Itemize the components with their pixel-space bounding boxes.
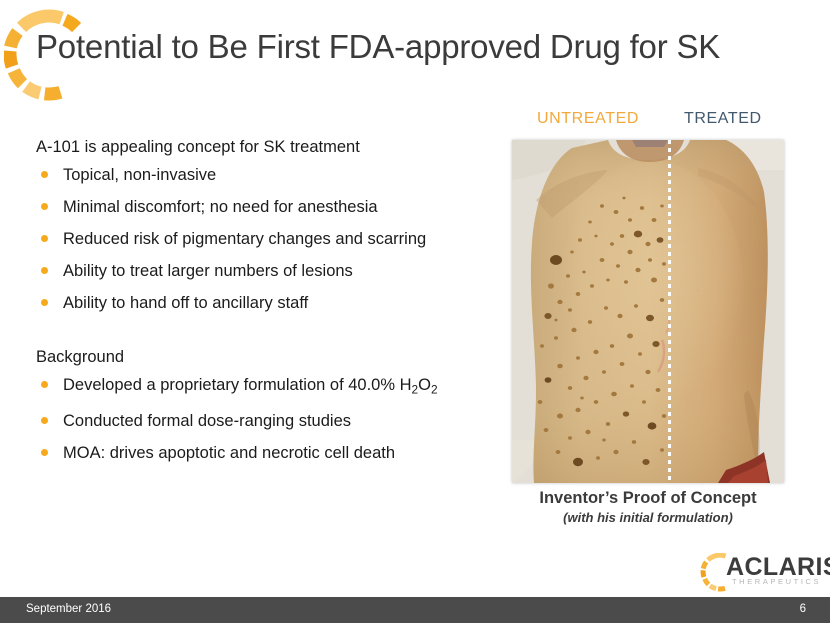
footer-page-number: 6: [800, 603, 806, 615]
photo-label-treated: TREATED: [684, 110, 762, 128]
slide: Potential to Be First FDA-approved Drug …: [0, 0, 830, 623]
list-item-label: Ability to treat larger numbers of lesio…: [63, 262, 353, 280]
list-item-label: MOA: drives apoptotic and necrotic cell …: [63, 444, 395, 462]
treatment-divider-line: [668, 140, 671, 483]
list-item-label: Developed a proprietary formulation of 4…: [63, 376, 438, 394]
list-item-label: Conducted formal dose-ranging studies: [63, 412, 351, 430]
list-item-label: Topical, non-invasive: [63, 166, 216, 184]
bullet-dot-icon: [41, 417, 48, 424]
bullet-list-background: Developed a proprietary formulation of 4…: [36, 374, 496, 464]
photo-caption-sub: (with his initial formulation): [512, 510, 784, 525]
lead-line-background: Background: [36, 346, 496, 368]
page-title: Potential to Be First FDA-approved Drug …: [36, 26, 720, 68]
list-item: Conducted formal dose-ranging studies: [36, 410, 496, 432]
bullet-dot-icon: [41, 267, 48, 274]
list-item-label: Ability to hand off to ancillary staff: [63, 294, 308, 312]
photo-label-untreated: UNTREATED: [537, 110, 639, 128]
bullet-dot-icon: [41, 449, 48, 456]
bullet-list-concept: Topical, non-invasive Minimal discomfort…: [36, 164, 496, 314]
bullet-dot-icon: [41, 381, 48, 388]
background-section: Background Developed a proprietary formu…: [36, 346, 496, 464]
bullet-dot-icon: [41, 203, 48, 210]
footer-bar: September 2016 6: [0, 597, 830, 623]
clinical-photo-panel: [512, 140, 784, 483]
footer-date: September 2016: [26, 603, 111, 615]
list-item: Ability to hand off to ancillary staff: [36, 292, 496, 314]
body-content: A-101 is appealing concept for SK treatm…: [36, 136, 496, 474]
list-item: Ability to treat larger numbers of lesio…: [36, 260, 496, 282]
aclaris-logo: ACLARIS THERAPEUTICS: [700, 551, 822, 591]
list-item-label: Minimal discomfort; no need for anesthes…: [63, 198, 378, 216]
list-item: Topical, non-invasive: [36, 164, 496, 186]
clinical-photo-image: [512, 140, 784, 483]
bullet-dot-icon: [41, 235, 48, 242]
bullet-dot-icon: [41, 299, 48, 306]
list-item-label: Reduced risk of pigmentary changes and s…: [63, 230, 426, 248]
photo-caption-main: Inventor’s Proof of Concept: [512, 489, 784, 508]
list-item: Developed a proprietary formulation of 4…: [36, 374, 496, 400]
list-item: MOA: drives apoptotic and necrotic cell …: [36, 442, 496, 464]
list-item: Reduced risk of pigmentary changes and s…: [36, 228, 496, 250]
bullet-dot-icon: [41, 171, 48, 178]
lead-line-concept: A-101 is appealing concept for SK treatm…: [36, 136, 496, 158]
aclaris-tagline: THERAPEUTICS: [732, 577, 821, 586]
list-item: Minimal discomfort; no need for anesthes…: [36, 196, 496, 218]
